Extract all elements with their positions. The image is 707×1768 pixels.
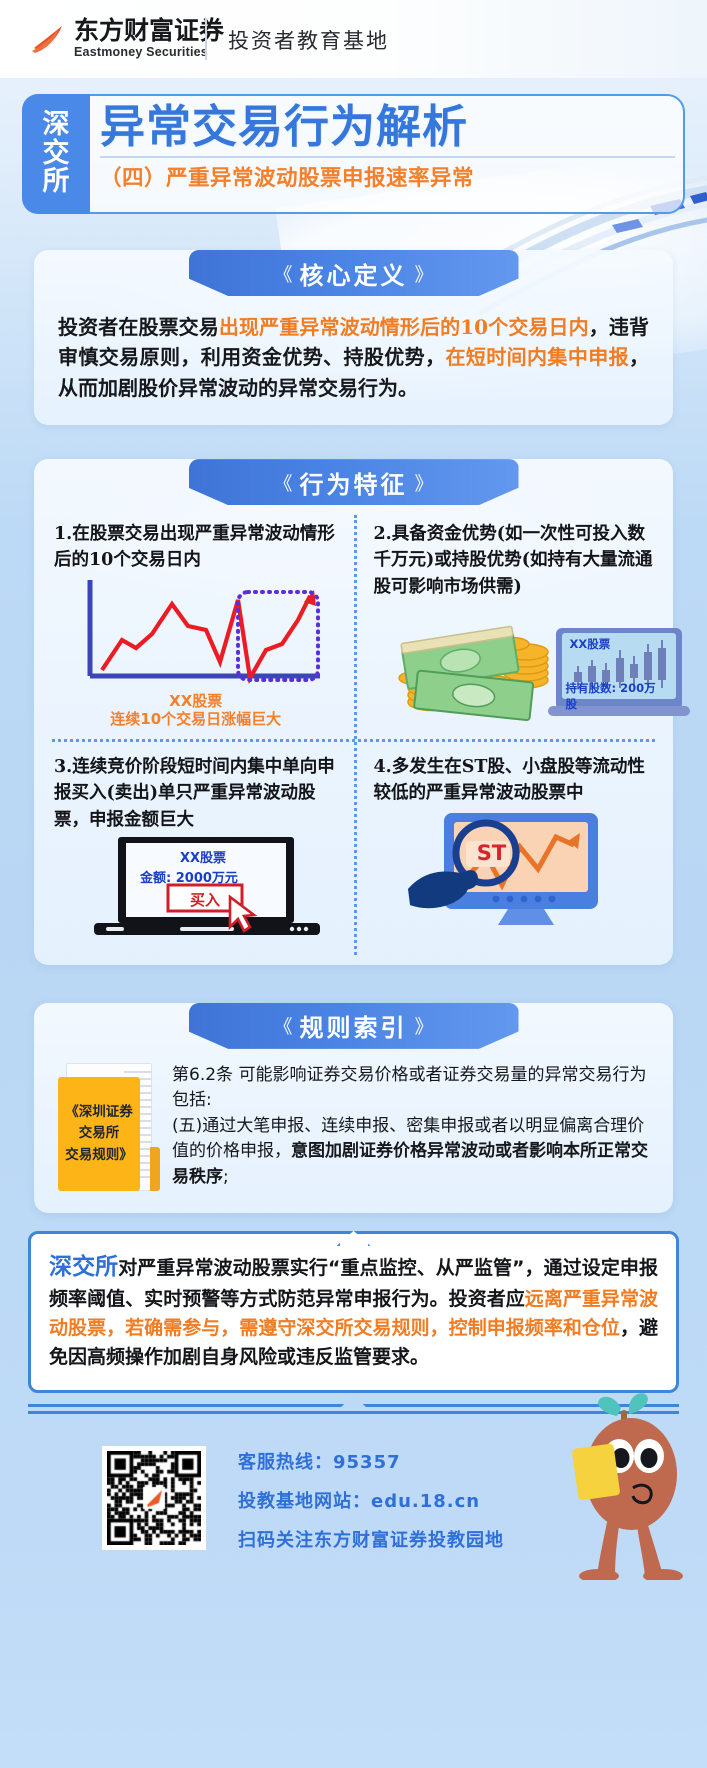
ribbon-quote-right-icon: 》 <box>408 260 441 287</box>
footer-scan-tip: 扫码关注东方财富证券投教园地 <box>238 1526 504 1552</box>
core-definition-body: 投资者在股票交易出现严重异常波动情形后的10个交易日内，违背审慎交易原则，利用资… <box>34 296 673 425</box>
capital-advantage-illustration: XX股票 持有股数: 200万股 <box>374 606 658 726</box>
feature-item-1: 1.在股票交易出现严重异常波动情形后的10个交易日内 <box>34 513 354 735</box>
header-subtitle: 投资者教育基地 <box>228 25 389 55</box>
st-badge: ST <box>470 841 514 865</box>
core-definition-ribbon: 《 核心定义 》 <box>189 250 519 296</box>
brand-name-en: Eastmoney Securities <box>74 46 224 59</box>
feature-item-3: 3.连续竞价阶段短时间内集中单向申报买入(卖出)单只严重异常波动股票，申报金额巨… <box>34 746 354 951</box>
rulebook-tab <box>150 1147 160 1191</box>
summary-text: 深交所对严重异常波动股票实行“重点监控、从严监管”，通过设定申报频率阈值、实时预… <box>49 1250 658 1372</box>
footer-contact-info: 客服热线：95357 投教基地网站：edu.18.cn 扫码关注东方财富证券投教… <box>238 1448 504 1565</box>
features-row-2: 3.连续竞价阶段短时间内集中单向申报买入(卖出)单只严重异常波动股票，申报金额巨… <box>34 746 673 951</box>
page-subtitle: （四）严重异常波动股票申报速率异常 <box>100 161 675 192</box>
rule-index-text: 第6.2条 可能影响证券交易价格或者证券交易量的异常交易行为包括: (五)通过大… <box>164 1063 653 1195</box>
summary-underline-chevron <box>341 1396 367 1408</box>
order-stock-label: XX股票 <box>180 847 226 866</box>
def-part-4-highlight: 在短时间内集中申报 <box>445 345 629 369</box>
def-part-2-highlight: 出现严重异常波动情形后的10个交易日内 <box>219 315 589 339</box>
features-grid: 1.在股票交易出现严重异常波动情形后的10个交易日内 <box>34 505 673 965</box>
summary-callout: 深交所对严重异常波动股票实行“重点监控、从严监管”，通过设定申报频率阈值、实时预… <box>28 1231 679 1393</box>
brand-block: 东方财富证券 Eastmoney Securities <box>28 18 224 59</box>
brand-name-cn: 东方财富证券 <box>74 18 224 43</box>
ribbon-quote-right-icon: 》 <box>408 469 441 496</box>
ribbon-quote-left-icon: 《 <box>266 260 299 287</box>
order-buy-button[interactable]: 买入 <box>178 889 232 910</box>
rulebook-title-line-3: 交易规则》 <box>65 1145 133 1167</box>
features-row-1: 1.在股票交易出现严重异常波动情形后的10个交易日内 <box>34 513 673 735</box>
page-title: 异常交易行为解析 <box>100 100 675 154</box>
mascot-character-icon <box>569 1390 689 1580</box>
header-divider <box>205 18 207 60</box>
behavior-features-ribbon: 《 行为特征 》 <box>189 459 519 505</box>
rule-index-ribbon-label: 规则索引 <box>300 1008 408 1043</box>
page-header: 东方财富证券 Eastmoney Securities 投资者教育基地 <box>0 0 707 78</box>
feature-item-3-text: 3.连续竞价阶段短时间内集中单向申报买入(卖出)单只严重异常波动股票，申报金额巨… <box>54 754 338 833</box>
feature-item-1-text: 1.在股票交易出现严重异常波动情形后的10个交易日内 <box>54 521 338 574</box>
title-banner: 深 交 所 异常交易行为解析 （四）严重异常波动股票申报速率异常 <box>22 94 685 214</box>
title-tab-char-2: 交 <box>43 140 70 169</box>
order-entry-laptop-illustration: XX股票 金额: 2000万元 买入 <box>54 835 338 945</box>
rulebook-cover: 《深圳证券 交易所 交易规则》 <box>58 1077 140 1191</box>
banknote-icon <box>400 626 532 720</box>
rule-paragraph-1: 第6.2条 可能影响证券交易价格或者证券交易量的异常交易行为包括: <box>172 1065 646 1111</box>
core-definition-section: 《 核心定义 》 投资者在股票交易出现严重异常波动情形后的10个交易日内，违背审… <box>34 250 673 425</box>
rulebook-title-line-1: 《深圳证券 <box>65 1102 133 1124</box>
footer-hotline: 客服热线：95357 <box>238 1448 504 1474</box>
behavior-features-section: 《 行为特征 》 1.在股票交易出现严重异常波动情形后的10个交易日内 <box>34 459 673 965</box>
rulebook-document-icon: 《深圳证券 交易所 交易规则》 <box>52 1063 164 1195</box>
qr-code-icon[interactable] <box>102 1446 206 1550</box>
chart-caption-line-2: 连续10个交易日涨幅巨大 <box>54 710 338 729</box>
rule-index-ribbon: 《 规则索引 》 <box>189 1003 519 1049</box>
title-tab-char-3: 所 <box>43 168 70 197</box>
laptop-stock-label: XX股票 <box>570 636 611 652</box>
rulebook-title-line-2: 交易所 <box>79 1123 120 1145</box>
ribbon-quote-right-icon: 》 <box>408 1012 441 1039</box>
st-stock-monitor-illustration: ST <box>374 811 658 931</box>
rule-paragraph-4: ; <box>223 1167 229 1187</box>
ribbon-quote-left-icon: 《 <box>266 1012 299 1039</box>
feature-item-4-text: 4.多发生在ST股、小盘股等流动性较低的严重异常波动股票中 <box>374 754 658 807</box>
order-amount-label: 金额: 2000万元 <box>140 867 238 886</box>
chart-caption-line-1: XX股票 <box>54 692 338 711</box>
laptop-holding-label: 持有股数: 200万股 <box>566 680 658 712</box>
title-exchange-tab: 深 交 所 <box>22 94 90 214</box>
title-tab-char-1: 深 <box>43 111 70 140</box>
feature-item-2: 2.具备资金优势(如一次性可投入数千万元)或持股优势(如持有大量流通股可影响市场… <box>354 513 674 735</box>
title-separator <box>100 156 675 158</box>
feature-item-2-text: 2.具备资金优势(如一次性可投入数千万元)或持股优势(如持有大量流通股可影响市场… <box>374 521 658 600</box>
summary-part-1-blue: 深交所 <box>49 1254 118 1280</box>
eastmoney-wing-logo-icon <box>28 18 68 58</box>
ribbon-quote-left-icon: 《 <box>266 469 299 496</box>
chart-caption: XX股票 连续10个交易日涨幅巨大 <box>54 692 338 730</box>
page-footer: 客服热线：95357 投教基地网站：edu.18.cn 扫码关注东方财富证券投教… <box>0 1432 707 1602</box>
rule-index-section: 《 规则索引 》 《深圳证券 交易所 交易规则》 第6.2条 可能影响证券交易价… <box>34 1003 673 1213</box>
def-part-1: 投资者在股票交易 <box>58 315 219 339</box>
feature-item-4: 4.多发生在ST股、小盘股等流动性较低的严重异常波动股票中 <box>354 746 674 951</box>
stock-line-chart-illustration <box>54 578 338 690</box>
behavior-features-ribbon-label: 行为特征 <box>300 465 408 500</box>
footer-website: 投教基地网站：edu.18.cn <box>238 1487 504 1513</box>
summary-notch <box>337 1231 371 1246</box>
core-definition-ribbon-label: 核心定义 <box>300 256 408 291</box>
rule-index-body: 《深圳证券 交易所 交易规则》 第6.2条 可能影响证券交易价格或者证券交易量的… <box>34 1049 673 1213</box>
